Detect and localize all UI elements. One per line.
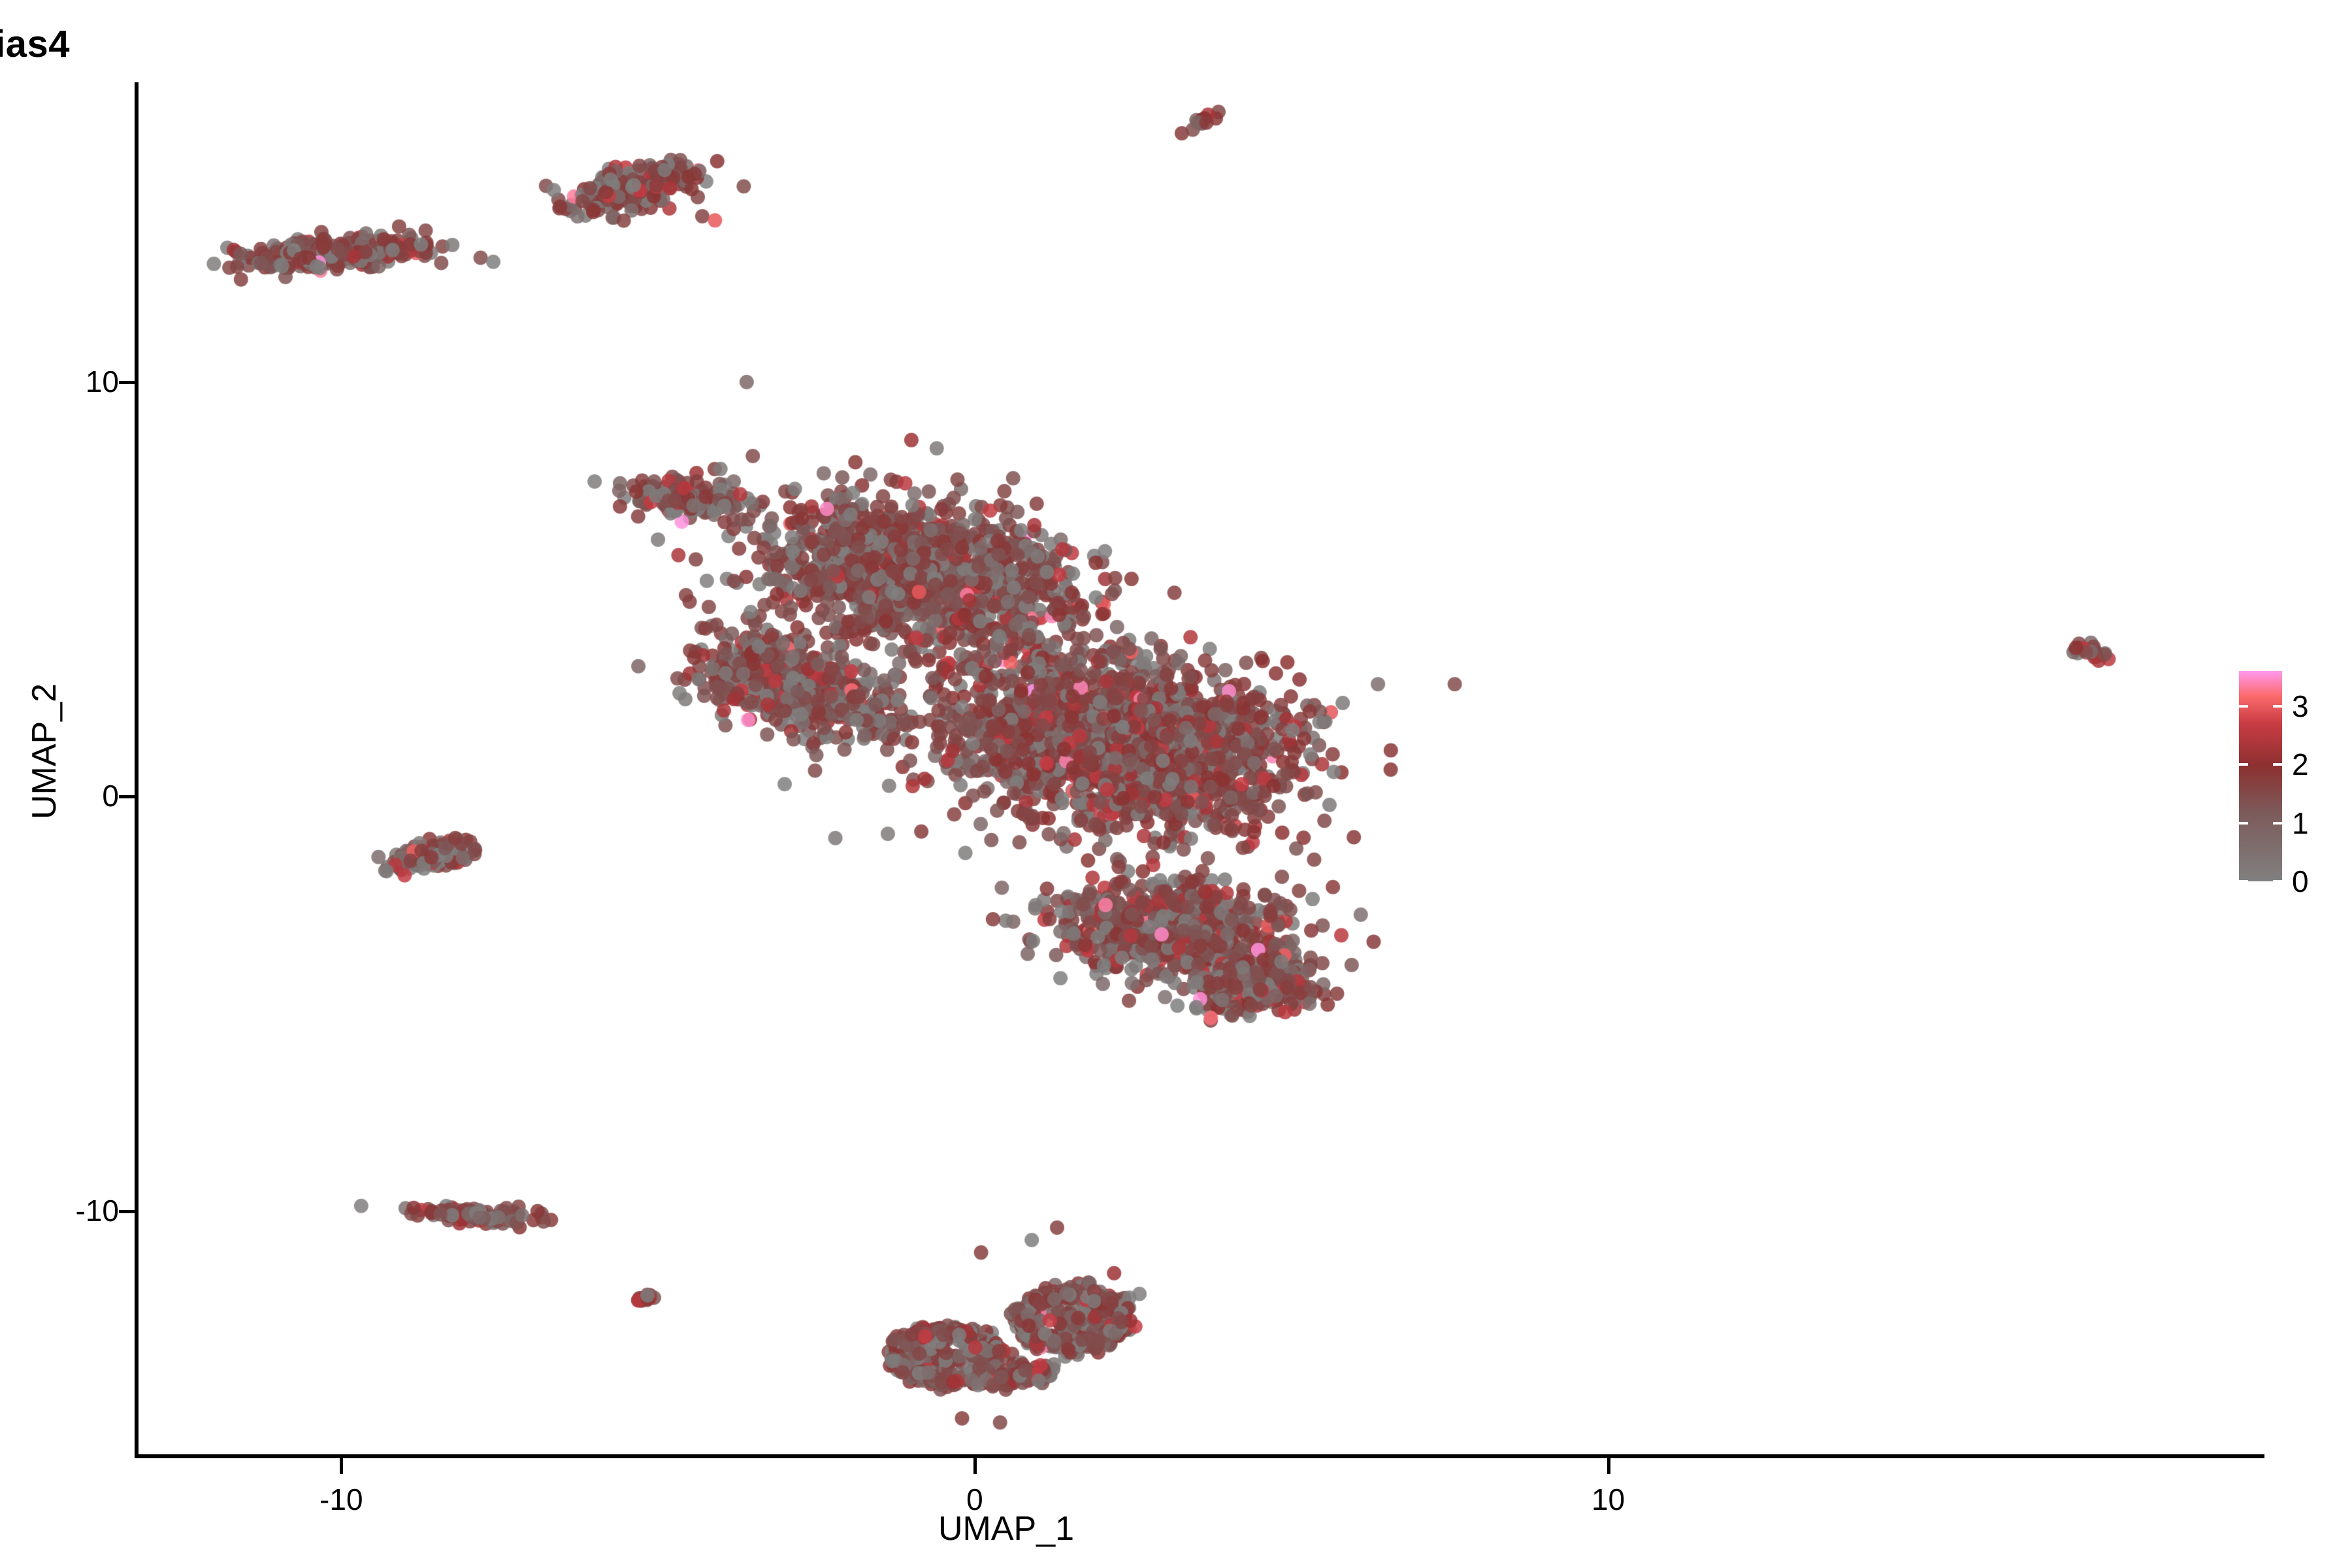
legend-tick-3 <box>2273 705 2282 708</box>
x-tick-label-10: 10 <box>1592 1482 1625 1517</box>
x-axis-line <box>135 1454 2264 1458</box>
y-tick-10 <box>119 381 135 384</box>
x-tick-10 <box>1607 1458 1610 1474</box>
legend-label-1: 1 <box>2292 806 2309 841</box>
plot-panel <box>139 84 2267 1456</box>
legend-colorbar <box>2239 671 2282 881</box>
legend-tick-3 <box>2239 705 2248 708</box>
color-legend: 0123 <box>2234 665 2345 890</box>
x-tick--10 <box>340 1458 343 1474</box>
y-tick-label-10: 10 <box>86 364 119 399</box>
y-tick-label--10: -10 <box>76 1193 119 1228</box>
x-tick-label--10: -10 <box>319 1482 363 1517</box>
legend-tick-1 <box>2273 822 2282 825</box>
legend-tick-2 <box>2239 763 2248 766</box>
x-tick-0 <box>973 1458 977 1474</box>
y-tick-0 <box>119 795 135 798</box>
y-axis-line <box>135 82 139 1457</box>
page-title: Pias4 <box>0 22 1196 66</box>
legend-tick-1 <box>2239 822 2248 825</box>
legend-label-2: 2 <box>2292 747 2309 782</box>
legend-label-0: 0 <box>2292 864 2309 899</box>
scatter-points-canvas <box>139 84 2267 1456</box>
x-axis-title: UMAP_1 <box>810 1509 1202 1548</box>
y-tick-label-0: 0 <box>102 778 119 813</box>
legend-tick-0 <box>2273 880 2282 883</box>
legend-label-3: 3 <box>2292 689 2309 724</box>
umap-feature-plot: Pias4 -10010-10010 UMAP_2 UMAP_1 0123 <box>0 0 2352 1568</box>
legend-tick-0 <box>2239 880 2248 883</box>
legend-tick-2 <box>2273 763 2282 766</box>
y-tick--10 <box>119 1210 135 1213</box>
y-axis-title: UMAP_2 <box>25 555 64 947</box>
